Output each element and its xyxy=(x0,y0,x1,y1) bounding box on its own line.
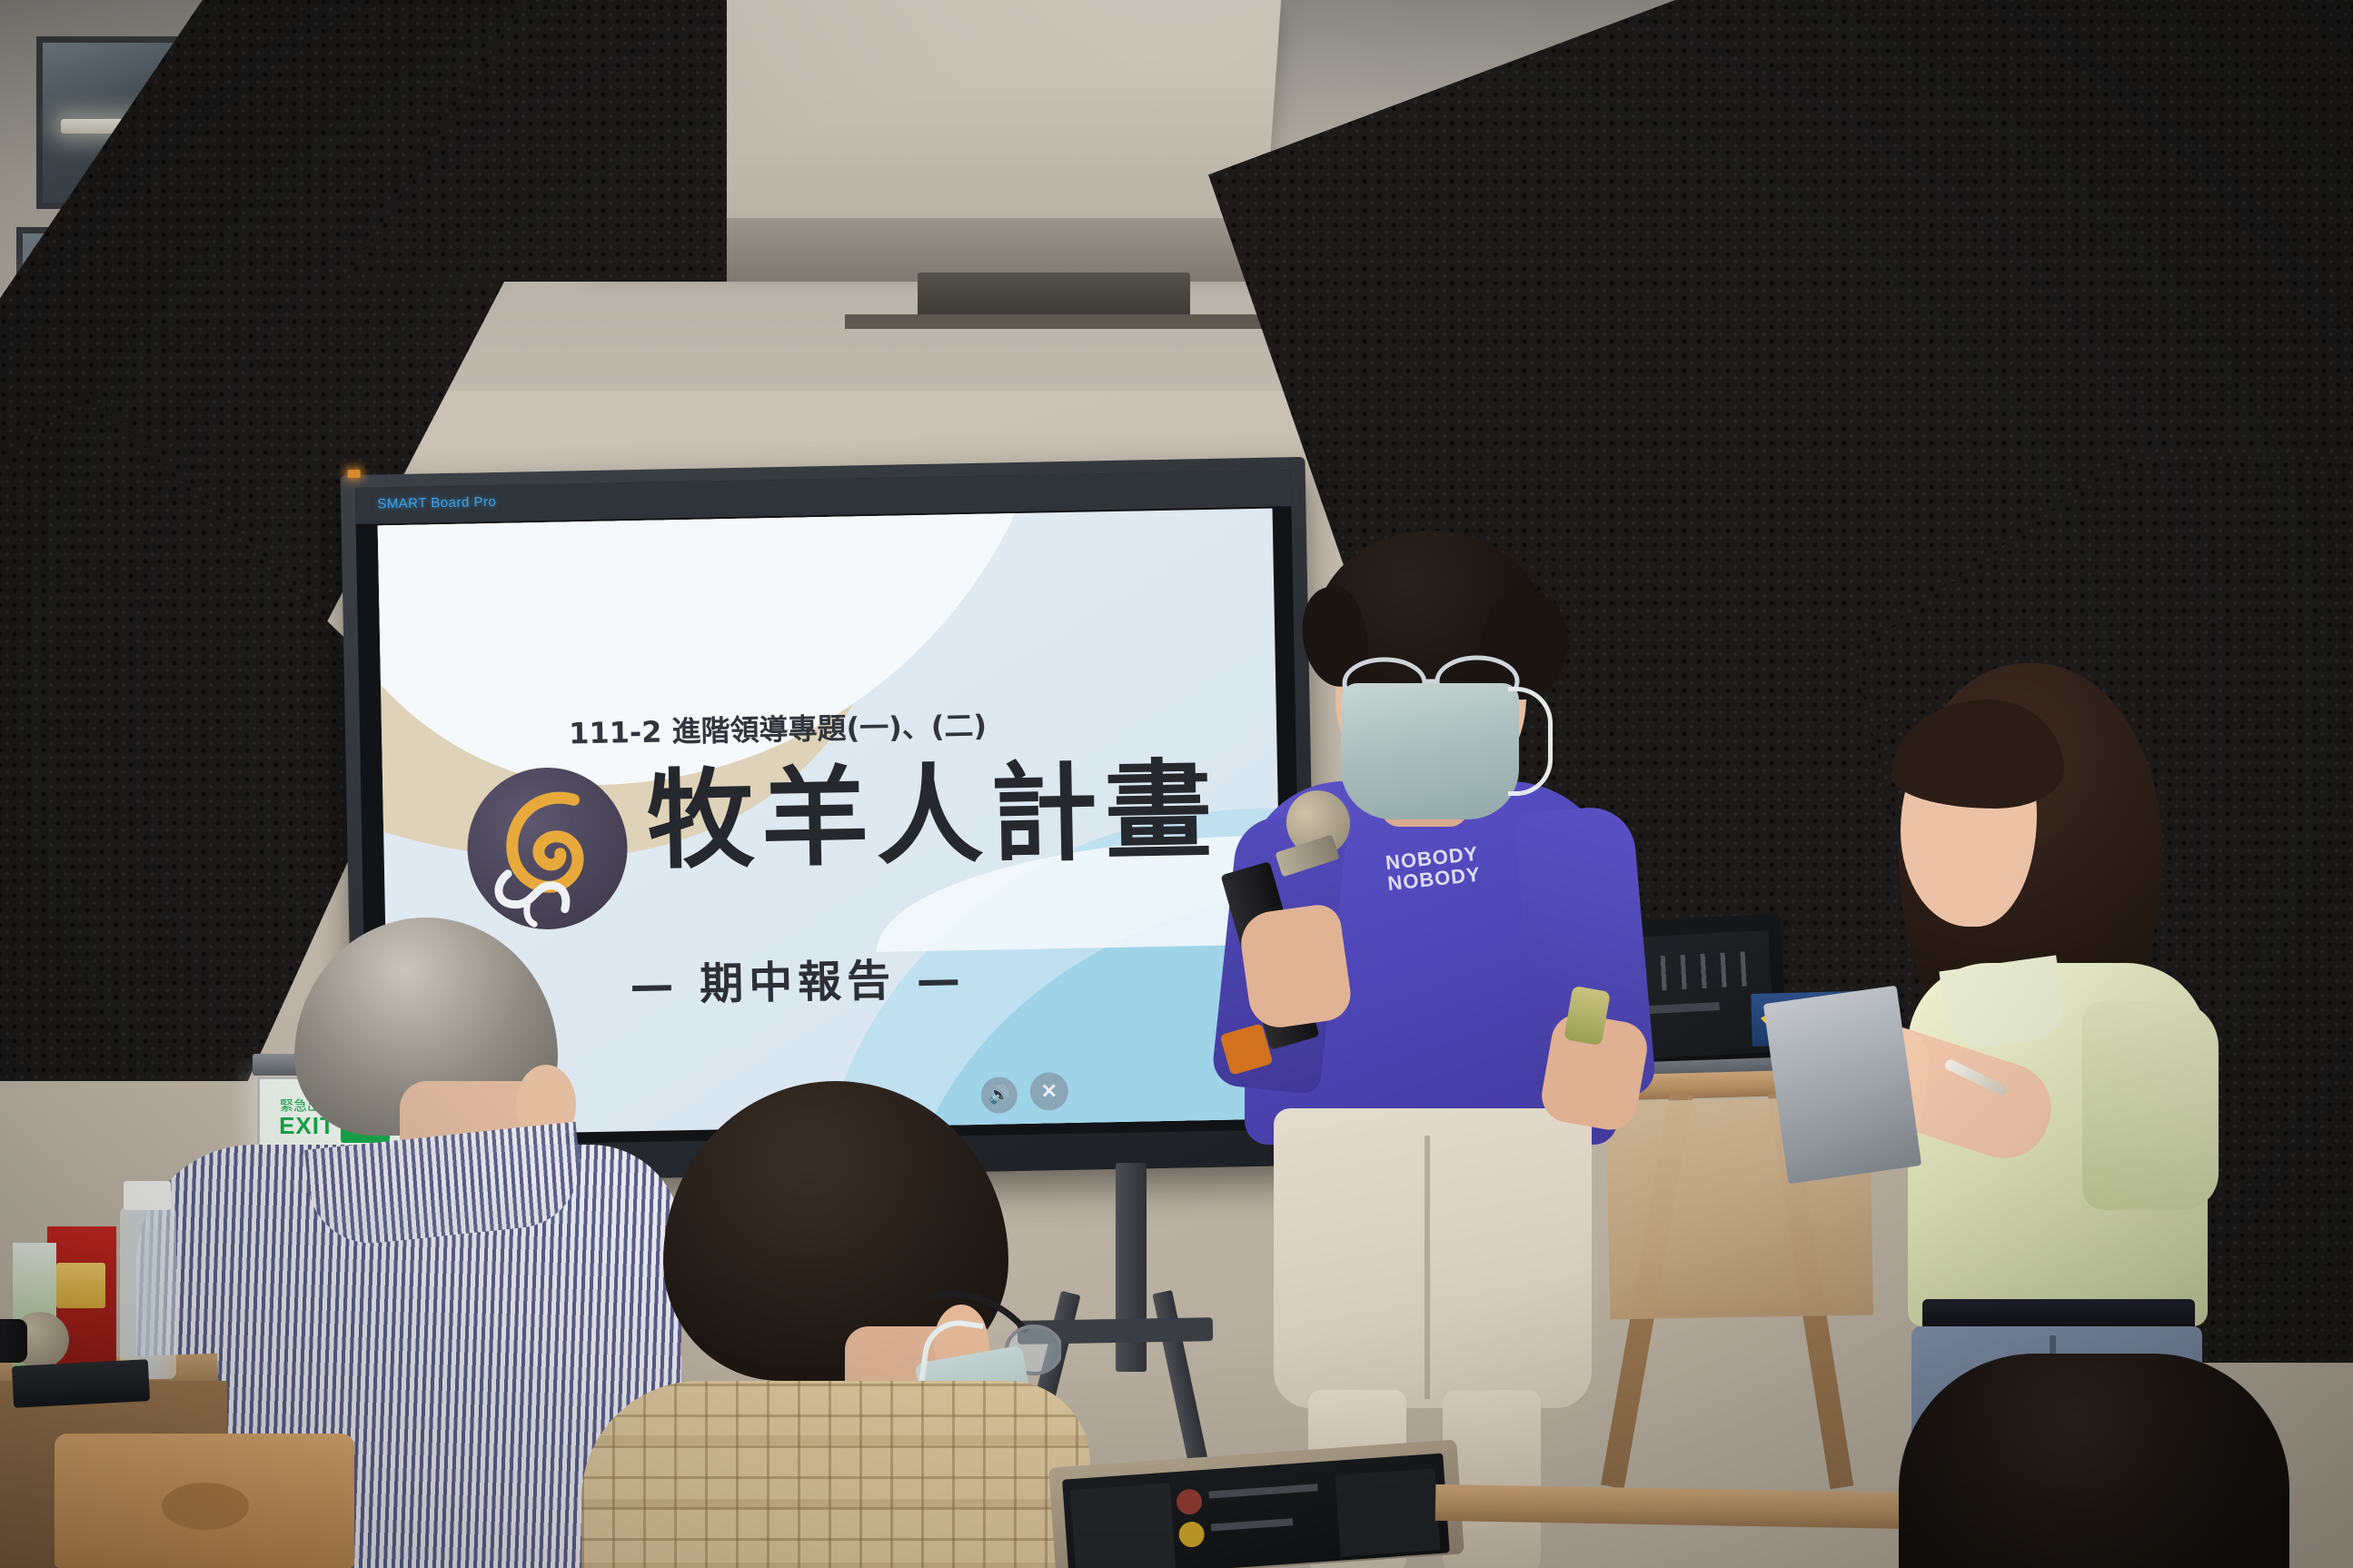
water-bottle xyxy=(120,1206,176,1379)
laptop-foreground-display xyxy=(1062,1454,1450,1568)
slide-course-heading: 111-2 進階領導專題(一)、(二) xyxy=(569,703,988,753)
co-presenter-sleeve xyxy=(2082,1001,2219,1210)
wooden-chair-hole xyxy=(162,1483,249,1530)
smartphone-on-desk[interactable] xyxy=(12,1359,150,1408)
spare-microphone-body xyxy=(0,1319,27,1363)
presenter-mask-strap xyxy=(1508,687,1553,796)
slide-project-title: 牧羊人計畫 xyxy=(646,757,1220,875)
presenter-shorts-crease xyxy=(1425,1136,1430,1399)
display-device-label: SMART Board Pro xyxy=(377,494,496,512)
photo-scene: SMART Board Pro 111-2 進階領導專題(一)、(二) xyxy=(0,0,2353,1568)
presenter-mask xyxy=(1341,683,1519,819)
shepherd-logo xyxy=(466,766,629,930)
audience-far-right xyxy=(1899,1354,2289,1568)
presenter-speaking: NOBODYNOBODY xyxy=(1208,509,1681,1568)
logo-spiral-icon xyxy=(511,798,579,888)
water-bottle-cap xyxy=(124,1181,171,1210)
presenter-hand-left xyxy=(1237,902,1355,1031)
phone-in-hand[interactable] xyxy=(1763,986,1921,1185)
presenter-shorts xyxy=(1274,1108,1592,1408)
red-snack-box-label xyxy=(56,1263,105,1308)
power-led xyxy=(347,470,360,478)
plaid-person-shirt xyxy=(581,1381,1090,1568)
